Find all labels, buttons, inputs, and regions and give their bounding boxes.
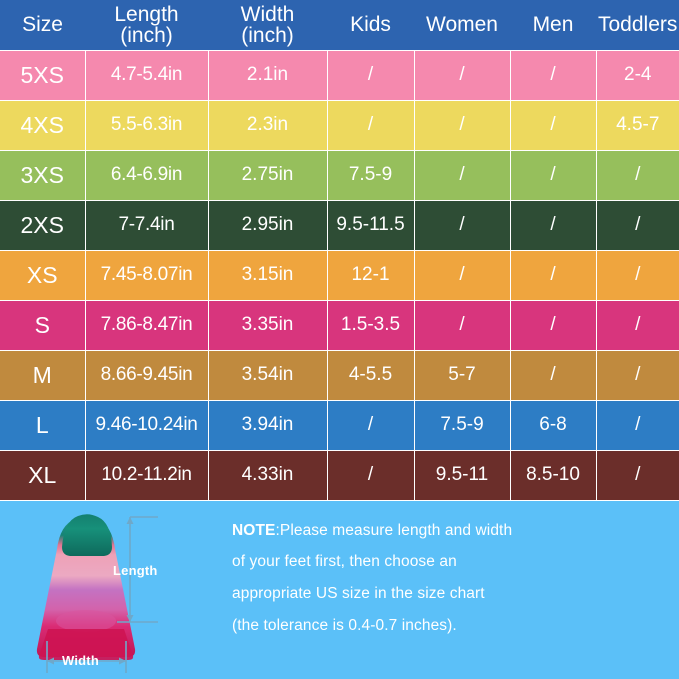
cell-size: M: [0, 350, 85, 400]
cell-toddlers: /: [596, 250, 679, 300]
cell-kids: /: [327, 100, 414, 150]
cell-size: XL: [0, 450, 85, 500]
column-header-toddlers: Toddlers: [596, 0, 679, 50]
table-row: XS 7.45-8.07in 3.15in 12-1 / / /: [0, 250, 679, 300]
cell-men: /: [510, 150, 596, 200]
cell-width: 2.75in: [208, 150, 327, 200]
cell-kids: 4-5.5: [327, 350, 414, 400]
column-header-width-label: Width: [241, 3, 295, 26]
cell-women: 5-7: [414, 350, 510, 400]
cell-toddlers: 4.5-7: [596, 100, 679, 150]
cell-size: XS: [0, 250, 85, 300]
cell-length: 7.45-8.07in: [85, 250, 208, 300]
cell-women: /: [414, 150, 510, 200]
fin-toe-cap: [62, 514, 112, 556]
cell-men: /: [510, 250, 596, 300]
size-chart-page: Size Length (inch) Width (inch) Kids Wom…: [0, 0, 679, 679]
cell-size: 3XS: [0, 150, 85, 200]
column-header-kids: Kids: [327, 0, 414, 50]
table-row: L 9.46-10.24in 3.94in / 7.5-9 6-8 /: [0, 400, 679, 450]
cell-toddlers: /: [596, 150, 679, 200]
cell-women: /: [414, 300, 510, 350]
cell-length: 7-7.4in: [85, 200, 208, 250]
cell-kids: 12-1: [327, 250, 414, 300]
cell-toddlers: /: [596, 350, 679, 400]
column-header-men: Men: [510, 0, 596, 50]
cell-width: 2.1in: [208, 50, 327, 100]
cell-size: 5XS: [0, 50, 85, 100]
column-header-length: Length (inch): [85, 0, 208, 50]
cell-size: L: [0, 400, 85, 450]
cell-length: 9.46-10.24in: [85, 400, 208, 450]
cell-kids: /: [327, 450, 414, 500]
note-line-3: appropriate US size in the size chart: [232, 578, 665, 610]
cell-men: 8.5-10: [510, 450, 596, 500]
swim-fin-icon: [0, 501, 210, 679]
cell-width: 3.54in: [208, 350, 327, 400]
cell-men: /: [510, 200, 596, 250]
column-header-toddlers-label: Toddlers: [598, 13, 677, 36]
column-header-width-unit: (inch): [210, 25, 325, 46]
cell-width: 4.33in: [208, 450, 327, 500]
cell-length: 4.7-5.4in: [85, 50, 208, 100]
cell-men: 6-8: [510, 400, 596, 450]
table-row: 5XS 4.7-5.4in 2.1in / / / 2-4: [0, 50, 679, 100]
size-chart-table: Size Length (inch) Width (inch) Kids Wom…: [0, 0, 679, 501]
table-row: M 8.66-9.45in 3.54in 4-5.5 5-7 / /: [0, 350, 679, 400]
cell-men: /: [510, 50, 596, 100]
cell-kids: /: [327, 50, 414, 100]
cell-women: 7.5-9: [414, 400, 510, 450]
column-header-size-label: Size: [22, 13, 63, 36]
cell-women: /: [414, 200, 510, 250]
cell-toddlers: /: [596, 300, 679, 350]
table-row: XL 10.2-11.2in 4.33in / 9.5-11 8.5-10 /: [0, 450, 679, 500]
swim-fin-diagram: Length Width: [0, 501, 210, 679]
cell-toddlers: 2-4: [596, 50, 679, 100]
width-dimension-label: Width: [62, 653, 99, 668]
column-header-width: Width (inch): [208, 0, 327, 50]
note-line-4: (the tolerance is 0.4-0.7 inches).: [232, 610, 665, 642]
cell-length: 7.86-8.47in: [85, 300, 208, 350]
column-header-women: Women: [414, 0, 510, 50]
column-header-kids-label: Kids: [350, 13, 391, 36]
note-line-1: NOTE:Please measure length and width: [232, 515, 665, 547]
cell-kids: 9.5-11.5: [327, 200, 414, 250]
cell-width: 3.94in: [208, 400, 327, 450]
cell-kids: 7.5-9: [327, 150, 414, 200]
column-header-length-unit: (inch): [87, 25, 206, 46]
cell-men: /: [510, 100, 596, 150]
cell-size: 4XS: [0, 100, 85, 150]
cell-women: 9.5-11: [414, 450, 510, 500]
cell-width: 2.95in: [208, 200, 327, 250]
note-label: NOTE: [232, 522, 275, 539]
table-header: Size Length (inch) Width (inch) Kids Wom…: [0, 0, 679, 50]
cell-toddlers: /: [596, 450, 679, 500]
cell-women: /: [414, 50, 510, 100]
table-row: S 7.86-8.47in 3.35in 1.5-3.5 / / /: [0, 300, 679, 350]
cell-length: 8.66-9.45in: [85, 350, 208, 400]
column-header-men-label: Men: [533, 13, 574, 36]
length-dimension-label: Length: [113, 563, 158, 578]
cell-toddlers: /: [596, 400, 679, 450]
header-row: Size Length (inch) Width (inch) Kids Wom…: [0, 0, 679, 50]
cell-width: 3.15in: [208, 250, 327, 300]
length-arrow-up: [127, 517, 134, 524]
table-body: 5XS 4.7-5.4in 2.1in / / / 2-4 4XS 5.5-6.…: [0, 50, 679, 500]
table-row: 2XS 7-7.4in 2.95in 9.5-11.5 / / /: [0, 200, 679, 250]
cell-size: 2XS: [0, 200, 85, 250]
cell-kids: /: [327, 400, 414, 450]
cell-women: /: [414, 250, 510, 300]
note-panel: Length Width NOTE:Please measure length …: [0, 501, 679, 679]
cell-length: 5.5-6.3in: [85, 100, 208, 150]
cell-men: /: [510, 350, 596, 400]
cell-size: S: [0, 300, 85, 350]
note-line-2: of your feet first, then choose an: [232, 546, 665, 578]
fin-foot-opening: [56, 610, 116, 632]
cell-kids: 1.5-3.5: [327, 300, 414, 350]
cell-men: /: [510, 300, 596, 350]
note-text-block: NOTE:Please measure length and width of …: [210, 501, 679, 679]
note-line-1-text: :Please measure length and width: [275, 522, 512, 539]
table-row: 4XS 5.5-6.3in 2.3in / / / 4.5-7: [0, 100, 679, 150]
table-row: 3XS 6.4-6.9in 2.75in 7.5-9 / / /: [0, 150, 679, 200]
column-header-women-label: Women: [426, 13, 498, 36]
cell-toddlers: /: [596, 200, 679, 250]
cell-length: 10.2-11.2in: [85, 450, 208, 500]
cell-women: /: [414, 100, 510, 150]
column-header-size: Size: [0, 0, 85, 50]
cell-length: 6.4-6.9in: [85, 150, 208, 200]
cell-width: 3.35in: [208, 300, 327, 350]
cell-width: 2.3in: [208, 100, 327, 150]
column-header-length-label: Length: [114, 3, 178, 26]
